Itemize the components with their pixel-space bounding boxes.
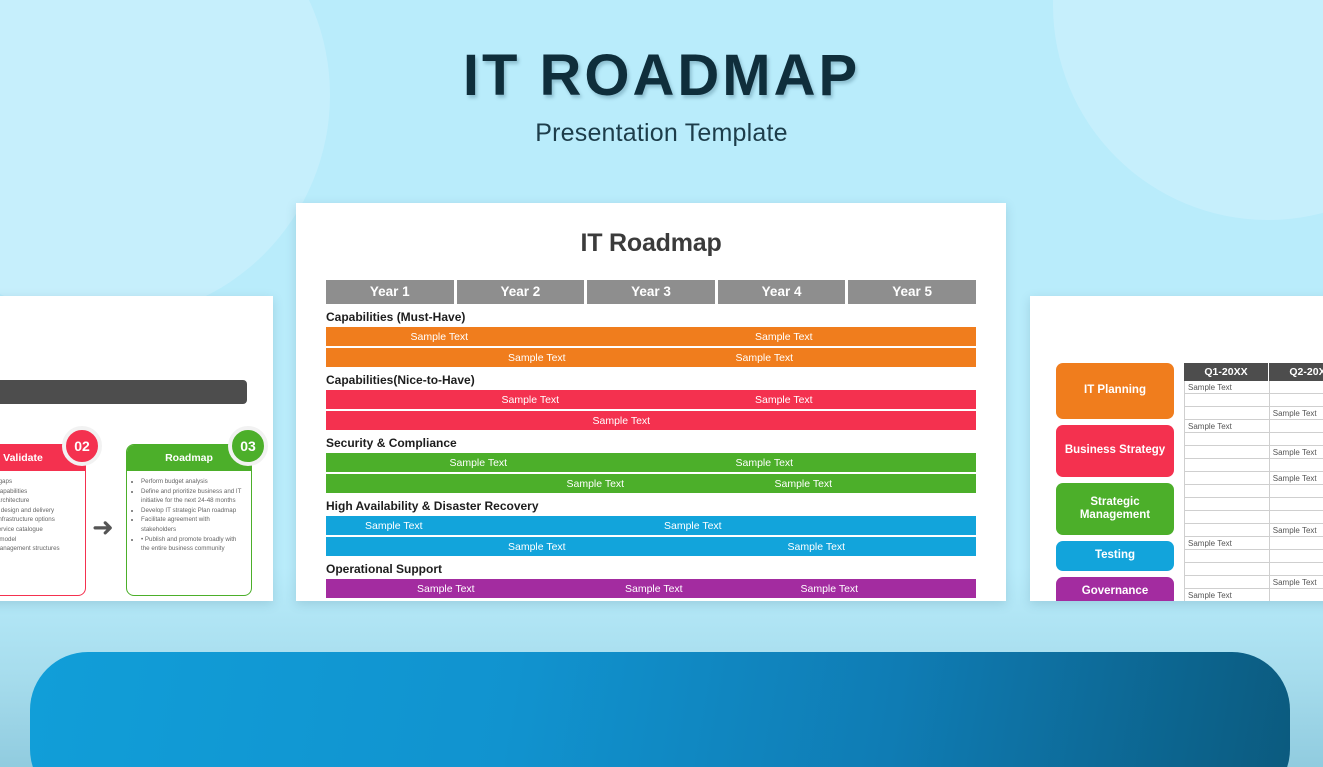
table-cell[interactable] — [1184, 394, 1270, 407]
year-cell-4: Year 4 — [718, 280, 846, 304]
track-bar-0-0[interactable]: Sample TextSample Text — [326, 327, 976, 346]
track-bar-label: Sample Text — [625, 583, 683, 595]
center-card-title: IT Roadmap — [326, 229, 976, 258]
table-cell[interactable] — [1270, 381, 1323, 394]
track-bar-1-1[interactable]: Sample Text — [326, 411, 976, 430]
table-cell[interactable]: Sample Text — [1184, 420, 1270, 433]
track-bar-label: Sample Text — [801, 583, 859, 595]
table-cell[interactable] — [1270, 498, 1323, 511]
process-step-bullet: Define service catalogue — [0, 525, 79, 535]
left-card-subtitle: IT Roadmap Approach — [0, 350, 247, 362]
quarter-column-header-1: Q2-20XX — [1269, 363, 1323, 381]
table-cell[interactable] — [1270, 589, 1323, 601]
table-cell[interactable] — [1184, 459, 1270, 472]
table-row: Sample Text — [1184, 537, 1323, 550]
track-bar-0-1[interactable]: Sample TextSample Text — [326, 348, 976, 367]
track-bar-label: Sample Text — [502, 394, 560, 406]
track-bar-3-0[interactable]: Sample TextSample Text — [326, 516, 976, 535]
quarter-column-header-0: Q1-20XX — [1184, 363, 1269, 381]
process-step-bullet: Assess capabilities — [0, 487, 79, 497]
table-cell[interactable] — [1270, 563, 1323, 576]
table-cell[interactable] — [1184, 511, 1270, 524]
table-cell[interactable] — [1270, 420, 1323, 433]
process-step-bullets: Perform budget analysisDefine and priori… — [141, 477, 245, 554]
table-row: Sample Text — [1184, 420, 1323, 433]
track-bar-label: Sample Text — [365, 520, 423, 532]
table-cell[interactable] — [1270, 511, 1323, 524]
quarters-table: Q1-20XXQ2-20XXQ3-20XXQ4-20XX Sample Text… — [1184, 363, 1323, 601]
track-bar-3-1[interactable]: Sample TextSample Text — [326, 537, 976, 556]
table-cell[interactable] — [1270, 433, 1323, 446]
table-row: Sample Text — [1184, 563, 1323, 576]
process-step-bullet: Define management structures — [0, 544, 79, 554]
year-header-row: Year 1Year 2Year 3Year 4Year 5 — [326, 280, 976, 304]
section-label-0: Capabilities (Must-Have) — [326, 310, 976, 324]
process-step-card: ValidateValidate gapsAssess capabilities… — [0, 444, 86, 596]
table-row: Sample Text — [1184, 407, 1323, 420]
table-cell[interactable] — [1184, 498, 1270, 511]
table-row: Sample Text — [1184, 524, 1323, 537]
slide-card-process-approach[interactable]: IT Roadmap IT Roadmap Approach 6-8 Weeks… — [0, 296, 273, 601]
table-row: Sample Text — [1184, 433, 1323, 446]
track-bar-label: Sample Text — [664, 520, 722, 532]
table-cell[interactable]: Sample Text — [1270, 576, 1323, 589]
page-title: IT ROADMAP — [0, 46, 1323, 107]
track-bar-4-0[interactable]: Sample TextSample TextSample Text — [326, 579, 976, 598]
category-label-4[interactable]: Governance — [1056, 577, 1174, 601]
slide-card-quarterly-roadmap[interactable]: IT Roadmap IT PlanningBusiness StrategyS… — [1030, 296, 1323, 601]
process-step-bullet: Review architecture — [0, 496, 79, 506]
table-cell[interactable] — [1184, 407, 1270, 420]
table-cell[interactable]: Sample Text — [1270, 446, 1323, 459]
table-row: Sample Text — [1184, 550, 1323, 563]
table-cell[interactable] — [1184, 550, 1270, 563]
table-row: Sample Text — [1184, 485, 1323, 498]
table-cell[interactable] — [1184, 485, 1270, 498]
table-cell[interactable] — [1270, 394, 1323, 407]
section-label-2: Security & Compliance — [326, 436, 976, 450]
quarters-table-header: Q1-20XXQ2-20XXQ3-20XXQ4-20XX — [1184, 363, 1323, 381]
table-cell[interactable] — [1184, 472, 1270, 485]
process-step-bullet: Develop IT strategic Plan roadmap — [141, 506, 245, 516]
track-bar-label: Sample Text — [411, 331, 469, 343]
year-cell-3: Year 3 — [587, 280, 715, 304]
background-bottom-banner — [30, 652, 1290, 767]
category-label-2[interactable]: Strategic Management — [1056, 483, 1174, 535]
process-step-bullet: Facilitate agreement with stakeholders — [141, 515, 245, 534]
table-cell[interactable] — [1270, 537, 1323, 550]
category-label-0[interactable]: IT Planning — [1056, 363, 1174, 419]
track-bar-2-0[interactable]: Sample TextSample Text — [326, 453, 976, 472]
table-cell[interactable] — [1184, 446, 1270, 459]
table-cell[interactable]: Sample Text — [1184, 589, 1270, 601]
process-step-bullet: Validate gaps — [0, 477, 79, 487]
process-step-bullet: Develop model — [0, 535, 79, 545]
section-label-4: Operational Support — [326, 562, 976, 576]
section-label-3: High Availability & Disaster Recovery — [326, 499, 976, 513]
year-cell-2: Year 2 — [457, 280, 585, 304]
quarters-table-body: Sample TextSample TextSample TextSample … — [1184, 381, 1323, 601]
track-bar-1-0[interactable]: Sample TextSample Text — [326, 390, 976, 409]
track-bar-2-1[interactable]: Sample TextSample Text — [326, 474, 976, 493]
table-cell[interactable] — [1184, 524, 1270, 537]
table-row: Sample Text — [1184, 459, 1323, 472]
process-step-bullets: Validate gapsAssess capabilitiesReview a… — [0, 477, 79, 554]
table-row: Sample Text — [1184, 472, 1323, 485]
track-bar-label: Sample Text — [417, 583, 475, 595]
process-step-number-badge: 03 — [228, 426, 268, 466]
track-bar-label: Sample Text — [775, 478, 833, 490]
table-cell[interactable] — [1184, 563, 1270, 576]
table-row: Sample Text — [1184, 589, 1323, 601]
table-row: Sample Text — [1184, 576, 1323, 589]
table-row: Sample Text — [1184, 381, 1323, 394]
table-cell[interactable]: Sample Text — [1270, 524, 1323, 537]
track-bar-label: Sample Text — [593, 415, 651, 427]
track-bar-label: Sample Text — [736, 457, 794, 469]
track-bar-label: Sample Text — [788, 541, 846, 553]
process-step-bullet: Review infrastructure options — [0, 515, 79, 525]
track-bar-label: Sample Text — [450, 457, 508, 469]
left-card-duration-bar: 6-8 Weeks — [0, 380, 247, 404]
slide-card-it-roadmap-timeline[interactable]: IT Roadmap Year 1Year 2Year 3Year 4Year … — [296, 203, 1006, 601]
category-label-3[interactable]: Testing — [1056, 541, 1174, 571]
table-row: Sample Text — [1184, 394, 1323, 407]
table-cell[interactable]: Sample Text — [1184, 381, 1270, 394]
year-cell-5: Year 5 — [848, 280, 976, 304]
table-row: Sample Text — [1184, 446, 1323, 459]
track-bar-label: Sample Text — [736, 352, 794, 364]
table-cell[interactable] — [1270, 550, 1323, 563]
category-label-1[interactable]: Business Strategy — [1056, 425, 1174, 477]
table-cell[interactable] — [1184, 576, 1270, 589]
page-subtitle: Presentation Template — [0, 119, 1323, 148]
right-card-title: IT Roadmap — [1056, 318, 1323, 347]
track-bar-label: Sample Text — [755, 394, 813, 406]
roadmap-sections: Capabilities (Must-Have)Sample TextSampl… — [326, 310, 976, 598]
process-step-bullet: Define and prioritize business and IT in… — [141, 487, 245, 506]
table-row — [1184, 511, 1323, 524]
table-row: Sample Text — [1184, 498, 1323, 511]
process-step-card: RoadmapPerform budget analysisDefine and… — [126, 444, 252, 596]
process-step-number-badge: 02 — [62, 426, 102, 466]
year-cell-1: Year 1 — [326, 280, 454, 304]
left-card-title: IT Roadmap — [0, 318, 247, 345]
page-header: IT ROADMAP Presentation Template — [0, 46, 1323, 148]
process-step-bullet: • Publish and promote broadly with the e… — [141, 535, 245, 554]
track-bar-label: Sample Text — [567, 478, 625, 490]
left-card-steps: AssessReview current stateAssess IT capa… — [0, 426, 247, 596]
right-card-body: IT PlanningBusiness StrategyStrategic Ma… — [1056, 363, 1323, 601]
track-bar-label: Sample Text — [508, 541, 566, 553]
track-bar-label: Sample Text — [508, 352, 566, 364]
category-labels: IT PlanningBusiness StrategyStrategic Ma… — [1056, 363, 1184, 601]
table-cell[interactable]: Sample Text — [1270, 472, 1323, 485]
table-cell[interactable]: Sample Text — [1184, 537, 1270, 550]
section-label-1: Capabilities(Nice-to-Have) — [326, 373, 976, 387]
table-cell[interactable] — [1184, 433, 1270, 446]
track-bar-label: Sample Text — [755, 331, 813, 343]
process-step-bullet: Perform budget analysis — [141, 477, 245, 487]
table-cell[interactable] — [1270, 459, 1323, 472]
table-cell[interactable] — [1270, 485, 1323, 498]
process-step-bullet: Evaluate design and delivery — [0, 506, 79, 516]
process-arrow-icon: ➜ — [92, 514, 114, 540]
table-cell[interactable]: Sample Text — [1270, 407, 1323, 420]
